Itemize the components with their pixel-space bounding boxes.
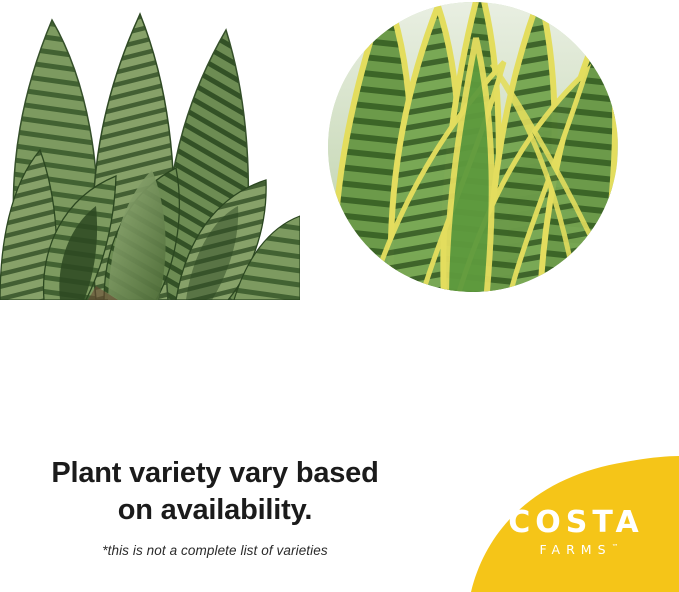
headline: Plant variety vary based on availability… [18, 455, 412, 529]
logo-costa-text: COSTA [491, 508, 661, 538]
snake-plant-circle-photo [328, 2, 618, 292]
rosette-illustration [0, 0, 300, 300]
costa-farms-logo: COSTA FARMS™ [447, 452, 679, 592]
trademark-icon: ™ [612, 543, 619, 551]
logo-farms-text: FARMS™ [494, 544, 664, 557]
logo-wordmark: COSTA FARMS™ [491, 508, 661, 557]
logo-farms-label: FARMS [540, 542, 612, 557]
photo-row [0, 0, 679, 310]
caption-block: Plant variety vary based on availability… [0, 455, 430, 558]
headline-line-2: on availability. [118, 494, 313, 526]
headline-line-1: Plant variety vary based [51, 457, 378, 489]
image-canvas: Plant variety vary based on availability… [0, 0, 679, 592]
footnote: *this is not a complete list of varietie… [0, 543, 430, 558]
circle-crop-illustration [328, 2, 618, 292]
snake-plant-rosette-photo [0, 0, 300, 300]
